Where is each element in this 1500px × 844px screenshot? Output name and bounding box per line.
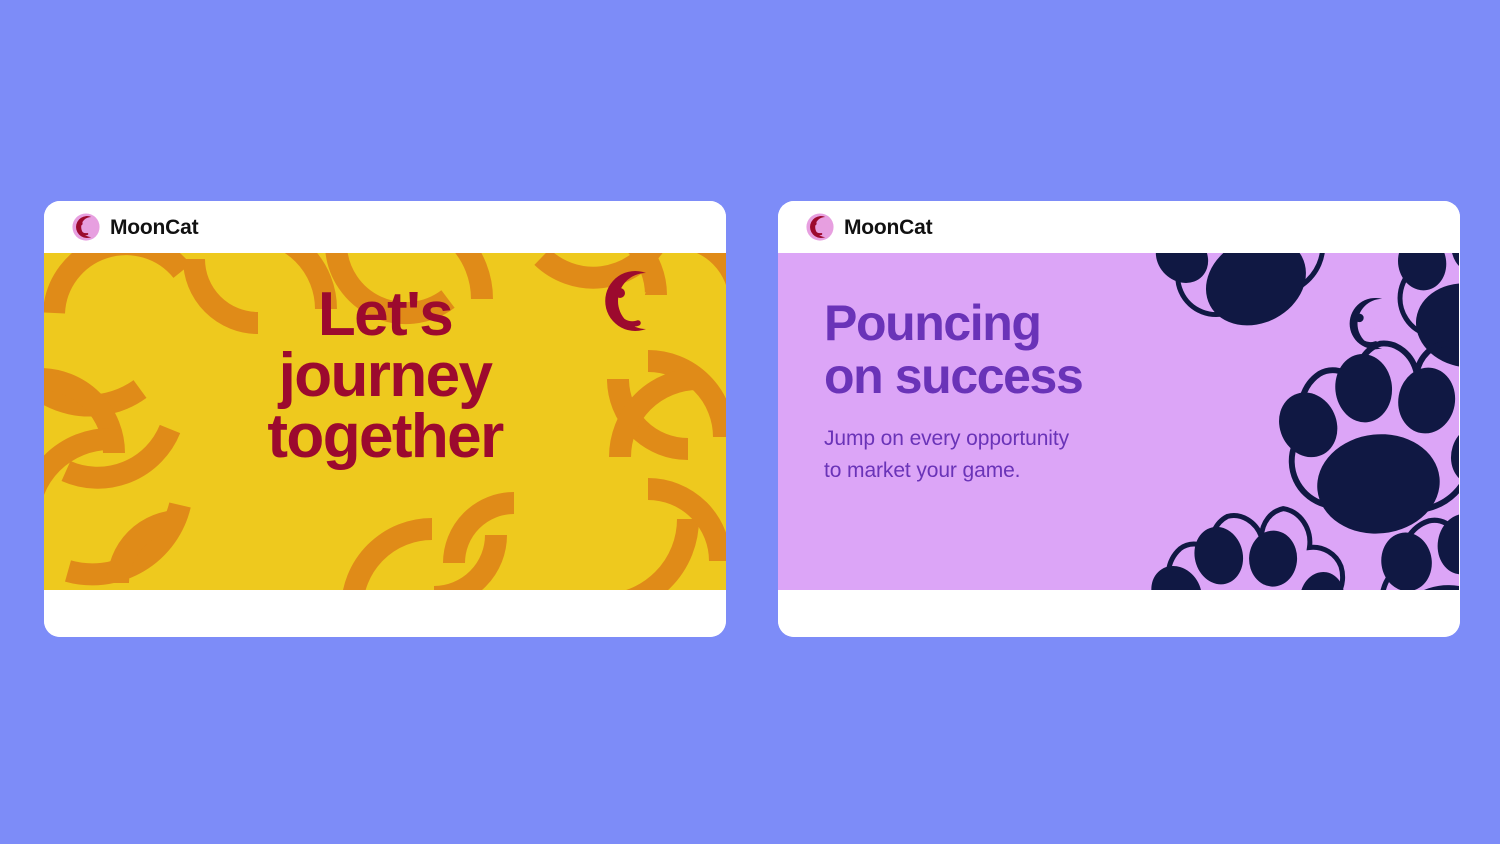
- banner-card-pouncing-on-success[interactable]: MoonCat: [778, 201, 1460, 637]
- brand-name: MoonCat: [844, 217, 932, 238]
- banner-subhead: Jump on every opportunity to market your…: [824, 423, 1082, 486]
- card-header: MoonCat: [44, 201, 726, 253]
- brand-name: MoonCat: [110, 217, 198, 238]
- card-header: MoonCat: [778, 201, 1460, 253]
- banner-purple: Pouncing on success Jump on every opport…: [778, 253, 1459, 590]
- banner-card-lets-journey-together[interactable]: MoonCat: [44, 201, 726, 637]
- banner-copy: Let's journey together: [44, 285, 726, 467]
- mooncat-logo-icon: [72, 213, 100, 241]
- banner-copy: Pouncing on success Jump on every opport…: [824, 297, 1082, 486]
- banner-headline: Let's journey together: [44, 285, 726, 467]
- banner-headline: Pouncing on success: [824, 297, 1082, 403]
- banner-yellow: Let's journey together: [44, 253, 726, 590]
- mooncat-logo-icon: [806, 213, 834, 241]
- card-footer: [778, 590, 1460, 637]
- card-footer: [44, 590, 726, 637]
- page-canvas: MoonCat: [0, 0, 1500, 844]
